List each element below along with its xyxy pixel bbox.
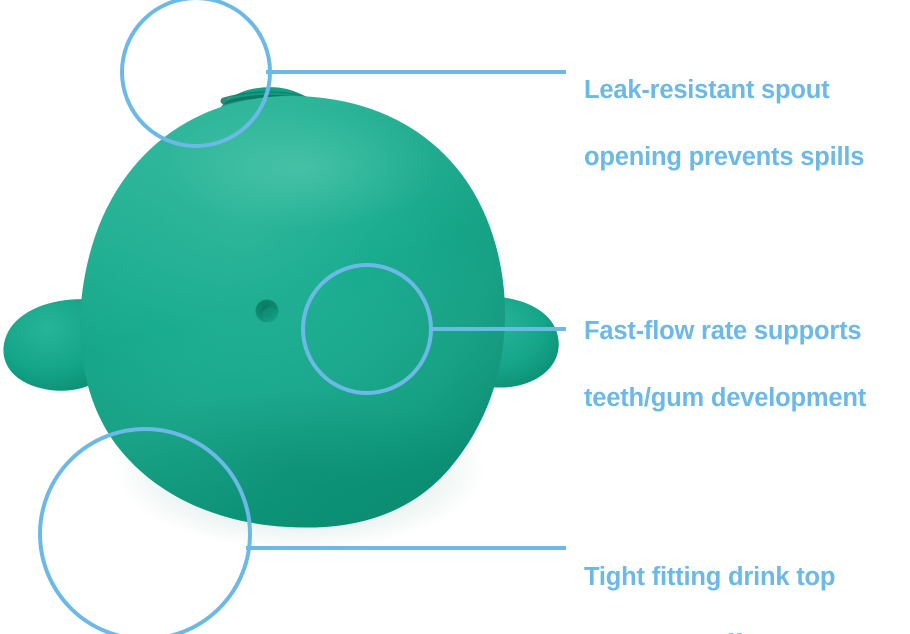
callout-line-2: opening prevents spills bbox=[584, 143, 864, 171]
vent-hole-inner bbox=[263, 308, 278, 323]
callout-label-tight-fit: Tight fitting drink top won’t pop off bbox=[584, 527, 835, 634]
dome-body bbox=[80, 96, 505, 550]
vent-hole bbox=[256, 300, 279, 323]
callout-label-flow-rate: Fast-flow rate supports teeth/gum develo… bbox=[584, 281, 866, 416]
callout-line-1: Fast-flow rate supports bbox=[584, 317, 861, 345]
dome-top-highlight bbox=[160, 106, 440, 230]
callout-line-2: teeth/gum development bbox=[584, 384, 866, 412]
product-feature-infographic: Leak-resistant spout opening prevents sp… bbox=[0, 0, 910, 634]
dome-bottom-shading bbox=[115, 390, 485, 550]
callout-label-spout: Leak-resistant spout opening prevents sp… bbox=[584, 40, 864, 175]
callout-line-2: won’t pop off bbox=[584, 630, 741, 634]
callout-line-1: Tight fitting drink top bbox=[584, 563, 835, 591]
callout-line-1: Leak-resistant spout bbox=[584, 76, 829, 104]
product-group bbox=[3, 87, 558, 550]
